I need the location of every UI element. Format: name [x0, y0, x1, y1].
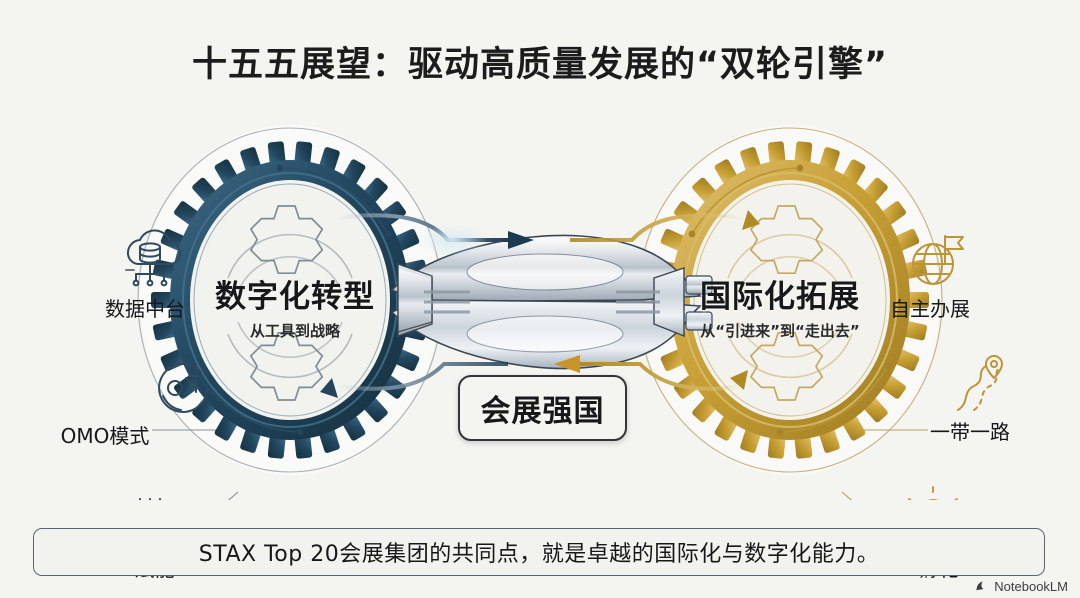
center-badge: 会展强国	[458, 375, 627, 441]
notebooklm-logo-icon	[974, 579, 989, 594]
feature-label: 数据中台	[65, 293, 225, 322]
dual-engine-diagram: AI	[0, 100, 1080, 500]
summary-caption-text: STAX Top 20会展集团的共同点，就是卓越的国际化与数字化能力。	[199, 536, 879, 568]
cloud-database-icon-slot	[65, 225, 225, 287]
feature-omo-model: OMO模式	[25, 352, 185, 449]
feature-label: 自主办展	[850, 293, 1010, 322]
notebooklm-label: NotebookLM	[994, 579, 1068, 594]
notebooklm-watermark: NotebookLM	[974, 579, 1068, 594]
globe-flag-icon-slot	[850, 225, 1010, 287]
feature-data-midend: 数据中台	[65, 225, 225, 322]
feature-self-hosted-expo: 自主办展	[850, 225, 1010, 322]
winding-road-pin-icon-slot	[890, 348, 1050, 410]
feature-label: 一带一路	[890, 416, 1050, 445]
omo-cycle-icon-slot	[25, 352, 185, 414]
page-title: 十五五展望：驱动高质量发展的“双轮引擎”	[0, 36, 1080, 87]
summary-caption: STAX Top 20会展集团的共同点，就是卓越的国际化与数字化能力。	[33, 528, 1045, 576]
center-badge-label: 会展强国	[481, 386, 605, 430]
feature-belt-and-road: 一带一路	[890, 348, 1050, 445]
feature-label: OMO模式	[25, 420, 185, 449]
slide-canvas: 十五五展望：驱动高质量发展的“双轮引擎”	[0, 0, 1080, 598]
